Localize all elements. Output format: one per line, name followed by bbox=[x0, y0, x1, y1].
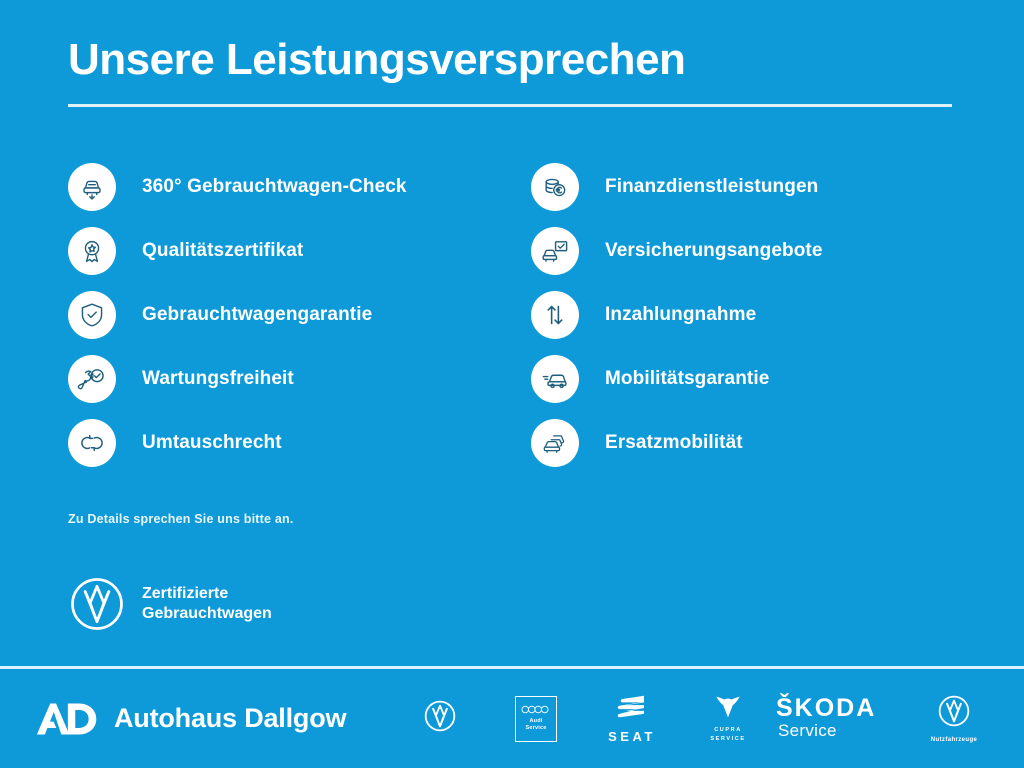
benefit-label: Umtauschrecht bbox=[142, 432, 282, 454]
brand-logo-skoda-service[interactable]: ŠKODA Service bbox=[776, 696, 906, 741]
ad-monogram-icon bbox=[36, 701, 98, 737]
certified-line-1: Zertifizierte bbox=[142, 584, 272, 604]
benefit-item[interactable]: Ersatzmobilität bbox=[531, 411, 986, 475]
benefits-column-left: 360° Gebrauchtwagen-Check Qualitätszerti… bbox=[68, 155, 523, 475]
trade-in-arrows-icon bbox=[531, 291, 579, 339]
brand-logo-vw[interactable] bbox=[392, 699, 488, 738]
replacement-cars-icon bbox=[531, 419, 579, 467]
audi-service-caption: Audi Service bbox=[526, 718, 547, 732]
exchange-arrows-icon bbox=[68, 419, 116, 467]
audi-name: Audi bbox=[529, 718, 542, 724]
benefit-label: Mobilitätsgarantie bbox=[605, 368, 769, 390]
benefit-item[interactable]: Inzahlungnahme bbox=[531, 283, 986, 347]
seat-wordmark: SEAT bbox=[608, 729, 656, 744]
shield-check-icon bbox=[68, 291, 116, 339]
benefit-item[interactable]: Umtauschrecht bbox=[68, 411, 523, 475]
car-360-check-icon bbox=[68, 163, 116, 211]
benefit-item[interactable]: Gebrauchtwagengarantie bbox=[68, 283, 523, 347]
benefit-label: Versicherungsangebote bbox=[605, 240, 823, 262]
benefit-item[interactable]: 360° Gebrauchtwagen-Check bbox=[68, 155, 523, 219]
vw-logo-icon bbox=[423, 699, 457, 738]
cupra-name: CUPRA bbox=[714, 727, 742, 733]
benefit-item[interactable]: Versicherungsangebote bbox=[531, 219, 986, 283]
skoda-caption: Service bbox=[778, 721, 837, 741]
benefit-label: Ersatzmobilität bbox=[605, 432, 743, 454]
vw-logo-icon bbox=[68, 575, 126, 633]
brand-logo-seat[interactable]: SEAT bbox=[584, 694, 680, 744]
benefit-item[interactable]: Mobilitätsgarantie bbox=[531, 347, 986, 411]
dealer-name: Autohaus Dallgow bbox=[114, 703, 346, 734]
benefit-label: Inzahlungnahme bbox=[605, 304, 756, 326]
quality-seal-icon bbox=[68, 227, 116, 275]
seat-s-icon bbox=[617, 694, 647, 725]
car-insurance-check-icon bbox=[531, 227, 579, 275]
certified-line-2: Gebrauchtwagen bbox=[142, 604, 272, 624]
benefit-label: 360° Gebrauchtwagen-Check bbox=[142, 176, 407, 198]
vw-logo-icon bbox=[937, 694, 971, 733]
page-title: Unsere Leistungsversprechen bbox=[68, 36, 685, 84]
brand-logos: Audi Service SEAT bbox=[392, 694, 1002, 744]
benefit-label: Wartungsfreiheit bbox=[142, 368, 294, 390]
benefits-section: 360° Gebrauchtwagen-Check Qualitätszerti… bbox=[0, 155, 1024, 475]
dealer-branding[interactable]: Autohaus Dallgow bbox=[36, 701, 346, 737]
brand-logo-audi-service[interactable]: Audi Service bbox=[488, 696, 584, 742]
benefit-label: Gebrauchtwagengarantie bbox=[142, 304, 372, 326]
benefit-item[interactable]: Finanzdienstleistungen bbox=[531, 155, 986, 219]
tow-truck-icon bbox=[531, 355, 579, 403]
cupra-caption: SERVICE bbox=[710, 736, 745, 742]
cupra-logo-icon bbox=[715, 695, 741, 724]
benefits-column-right: Finanzdienstleistungen Versicherungsange… bbox=[531, 155, 986, 475]
footnote-text: Zu Details sprechen Sie uns bitte an. bbox=[68, 512, 294, 526]
certified-badge-text: Zertifizierte Gebrauchtwagen bbox=[142, 584, 272, 624]
coins-euro-icon bbox=[531, 163, 579, 211]
title-divider bbox=[68, 104, 952, 107]
certified-used-cars-badge: Zertifizierte Gebrauchtwagen bbox=[68, 575, 272, 633]
wrench-check-icon bbox=[68, 355, 116, 403]
footer: Autohaus Dallgow bbox=[0, 669, 1024, 768]
audi-rings-icon: Audi Service bbox=[515, 696, 557, 742]
promo-slide: Unsere Leistungsversprechen 360° Gebrauc… bbox=[0, 0, 1024, 768]
vw-nutzfahrzeuge-caption: Nutzfahrzeuge bbox=[931, 737, 978, 743]
benefit-label: Qualitätszertifikat bbox=[142, 240, 303, 262]
skoda-wordmark: ŠKODA bbox=[776, 696, 876, 721]
audi-caption: Service bbox=[526, 725, 547, 731]
benefit-item[interactable]: Qualitätszertifikat bbox=[68, 219, 523, 283]
benefit-item[interactable]: Wartungsfreiheit bbox=[68, 347, 523, 411]
brand-logo-vw-nutzfahrzeuge[interactable]: Nutzfahrzeuge bbox=[906, 694, 1002, 743]
brand-logo-cupra-service[interactable]: CUPRA SERVICE bbox=[680, 695, 776, 742]
benefit-label: Finanzdienstleistungen bbox=[605, 176, 818, 198]
